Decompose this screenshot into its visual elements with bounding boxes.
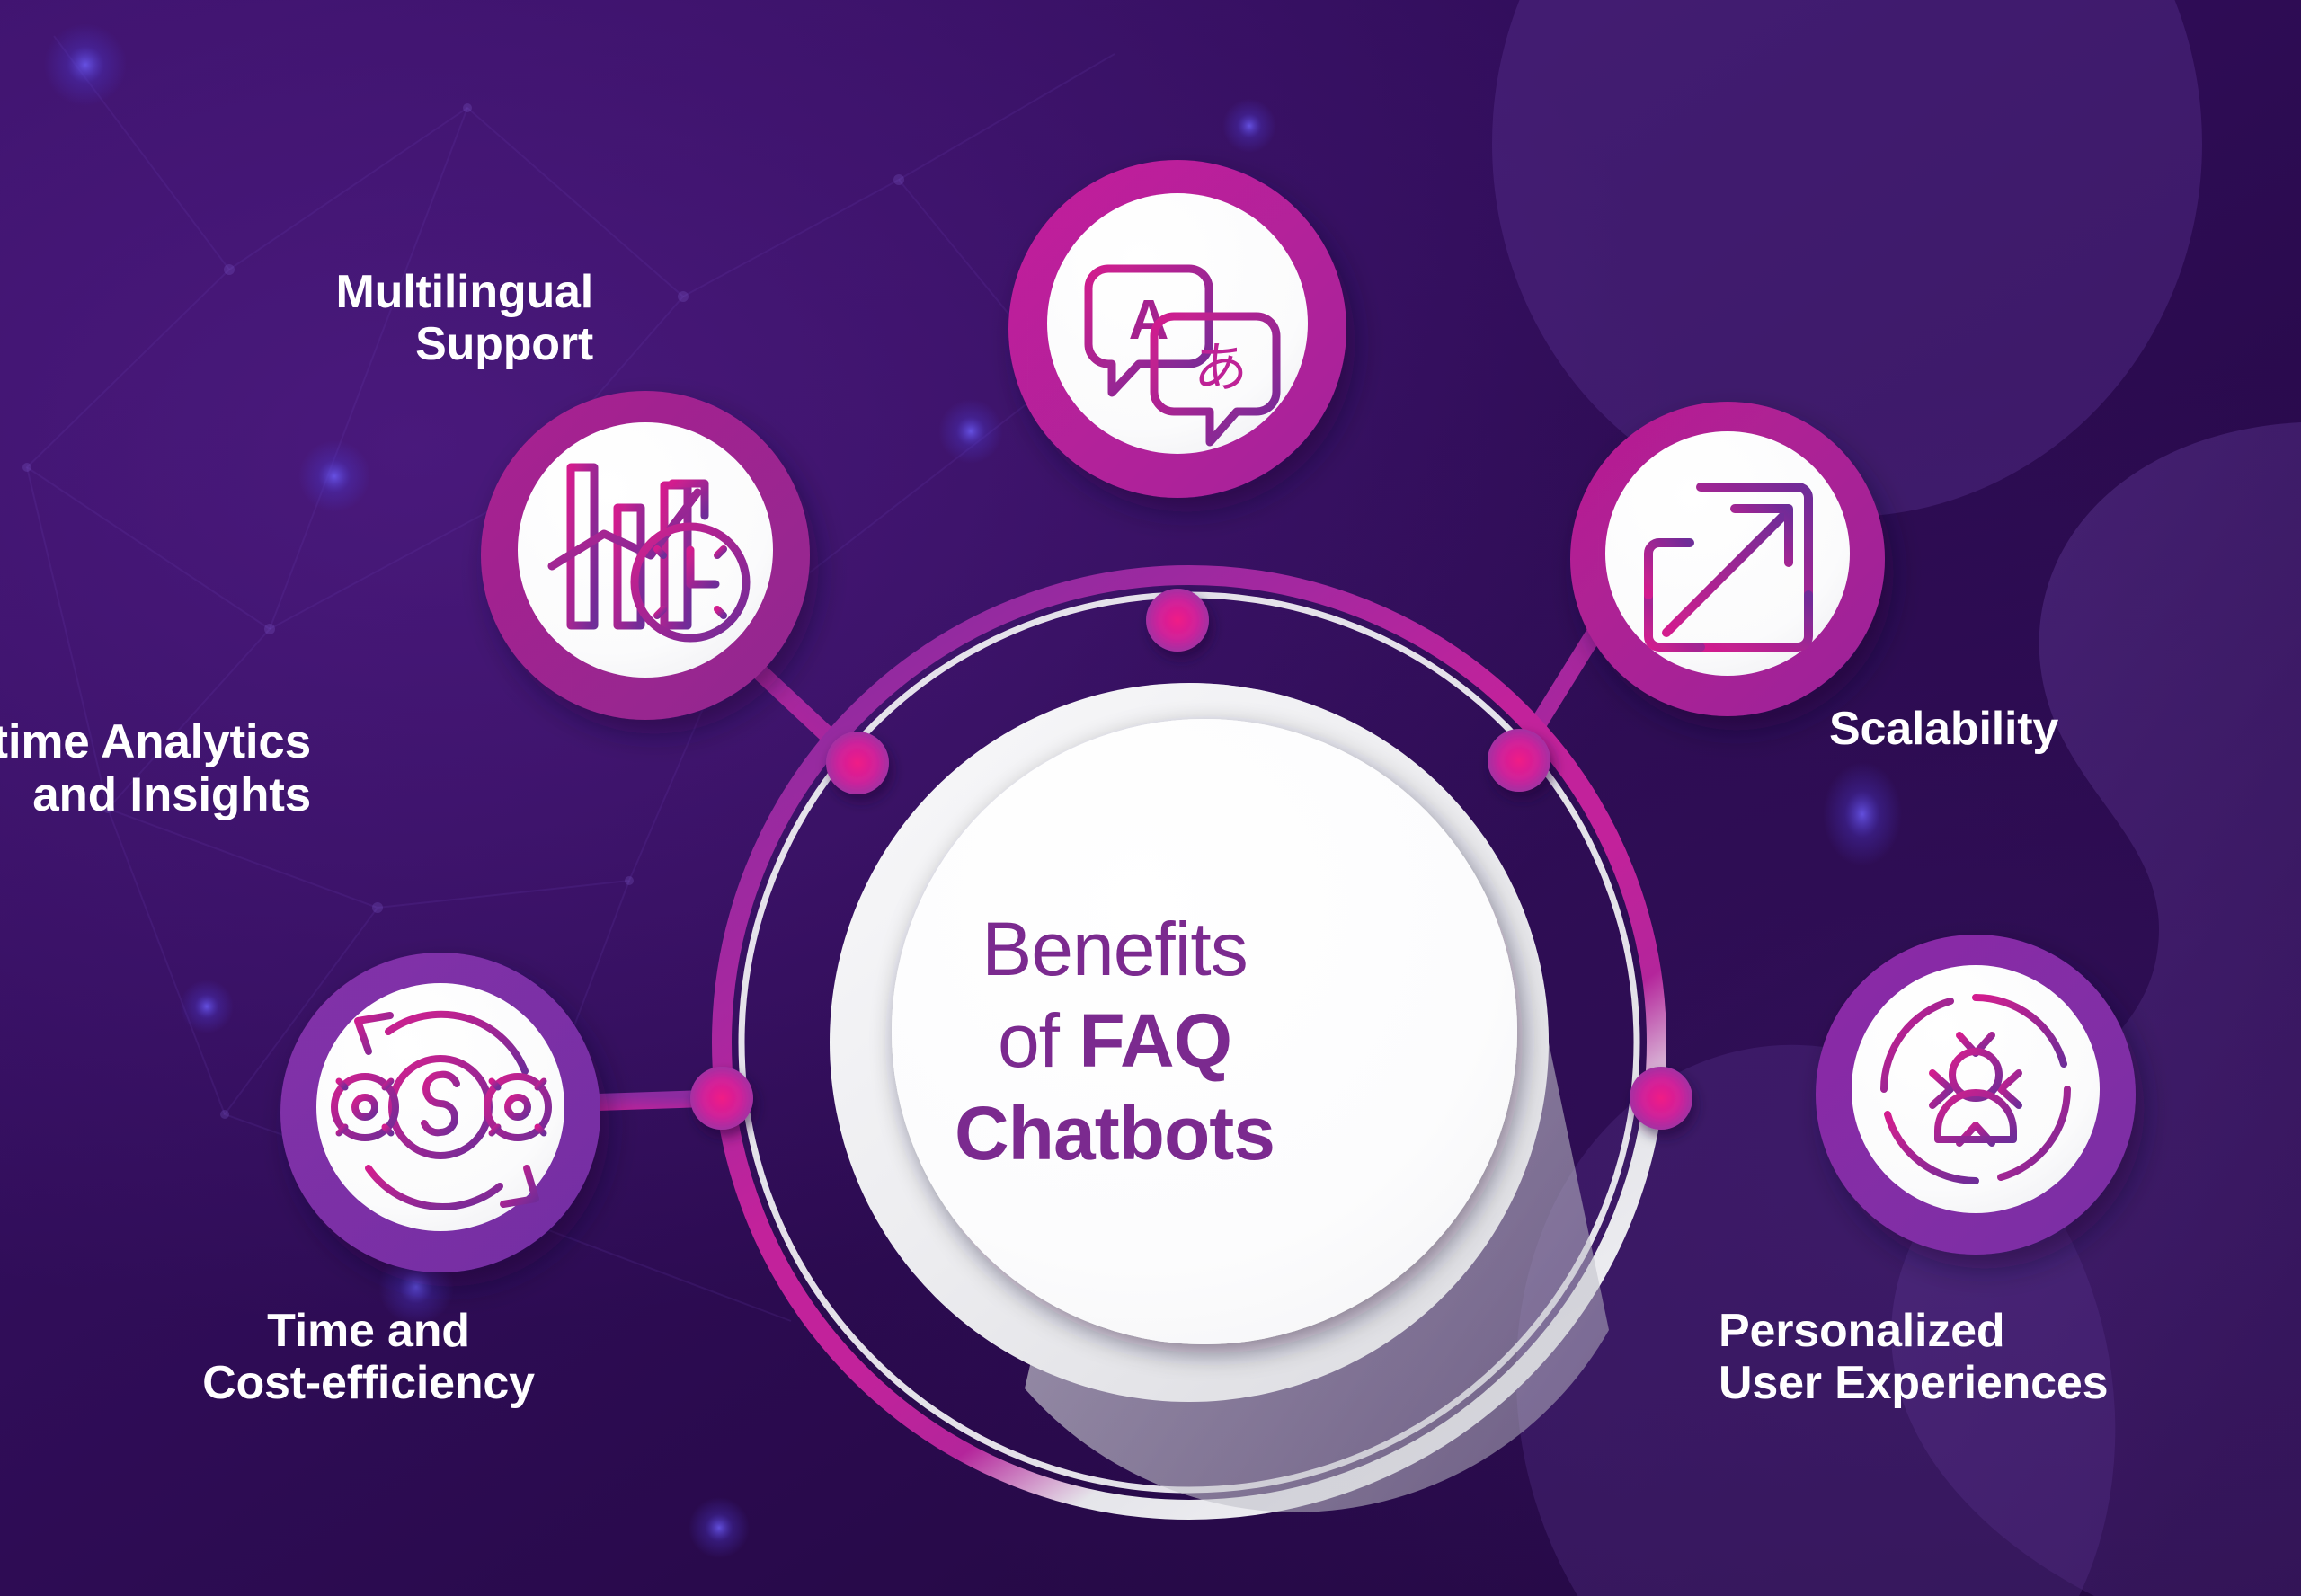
label-real-time-analytics: Real-time Analytics and Insights: [0, 715, 311, 822]
title-line-2-prefix: of: [998, 998, 1079, 1083]
title-line-2-strong: FAQ: [1079, 998, 1231, 1083]
user-inward-arrows-icon: [1884, 997, 2067, 1181]
icon-bubble-scalability[interactable]: [1570, 402, 1885, 716]
node-personalized[interactable]: [1630, 1067, 1692, 1130]
node-multilingual[interactable]: [1146, 589, 1209, 652]
icon-bubble-analytics[interactable]: [481, 391, 810, 720]
icon-bubble-personalized[interactable]: [1816, 935, 2136, 1255]
icon-bubble-face-scalability: [1605, 431, 1850, 676]
page-title: Benefits of FAQ Chatbots: [836, 903, 1393, 1179]
title-line-3: Chatbots: [836, 1087, 1393, 1179]
node-analytics[interactable]: [826, 731, 889, 794]
title-line-1: Benefits: [836, 903, 1393, 995]
icon-bubble-multilingual[interactable]: A あ: [1008, 160, 1346, 498]
svg-text:あ: あ: [1194, 338, 1248, 398]
icon-bubble-cost[interactable]: [280, 953, 600, 1272]
label-personalized-user-experiences: Personalized User Experiences: [1719, 1305, 2276, 1409]
node-scalability[interactable]: [1488, 729, 1550, 792]
title-line-2: of FAQ: [836, 995, 1393, 1086]
infographic-canvas: A あ: [0, 0, 2301, 1596]
label-time-and-cost-efficiency: Time and Cost-efficiency: [108, 1305, 629, 1409]
label-scalability: Scalability: [1829, 703, 2279, 755]
label-multilingual-support: Multilingual Support: [180, 266, 593, 370]
node-cost[interactable]: [690, 1067, 753, 1130]
